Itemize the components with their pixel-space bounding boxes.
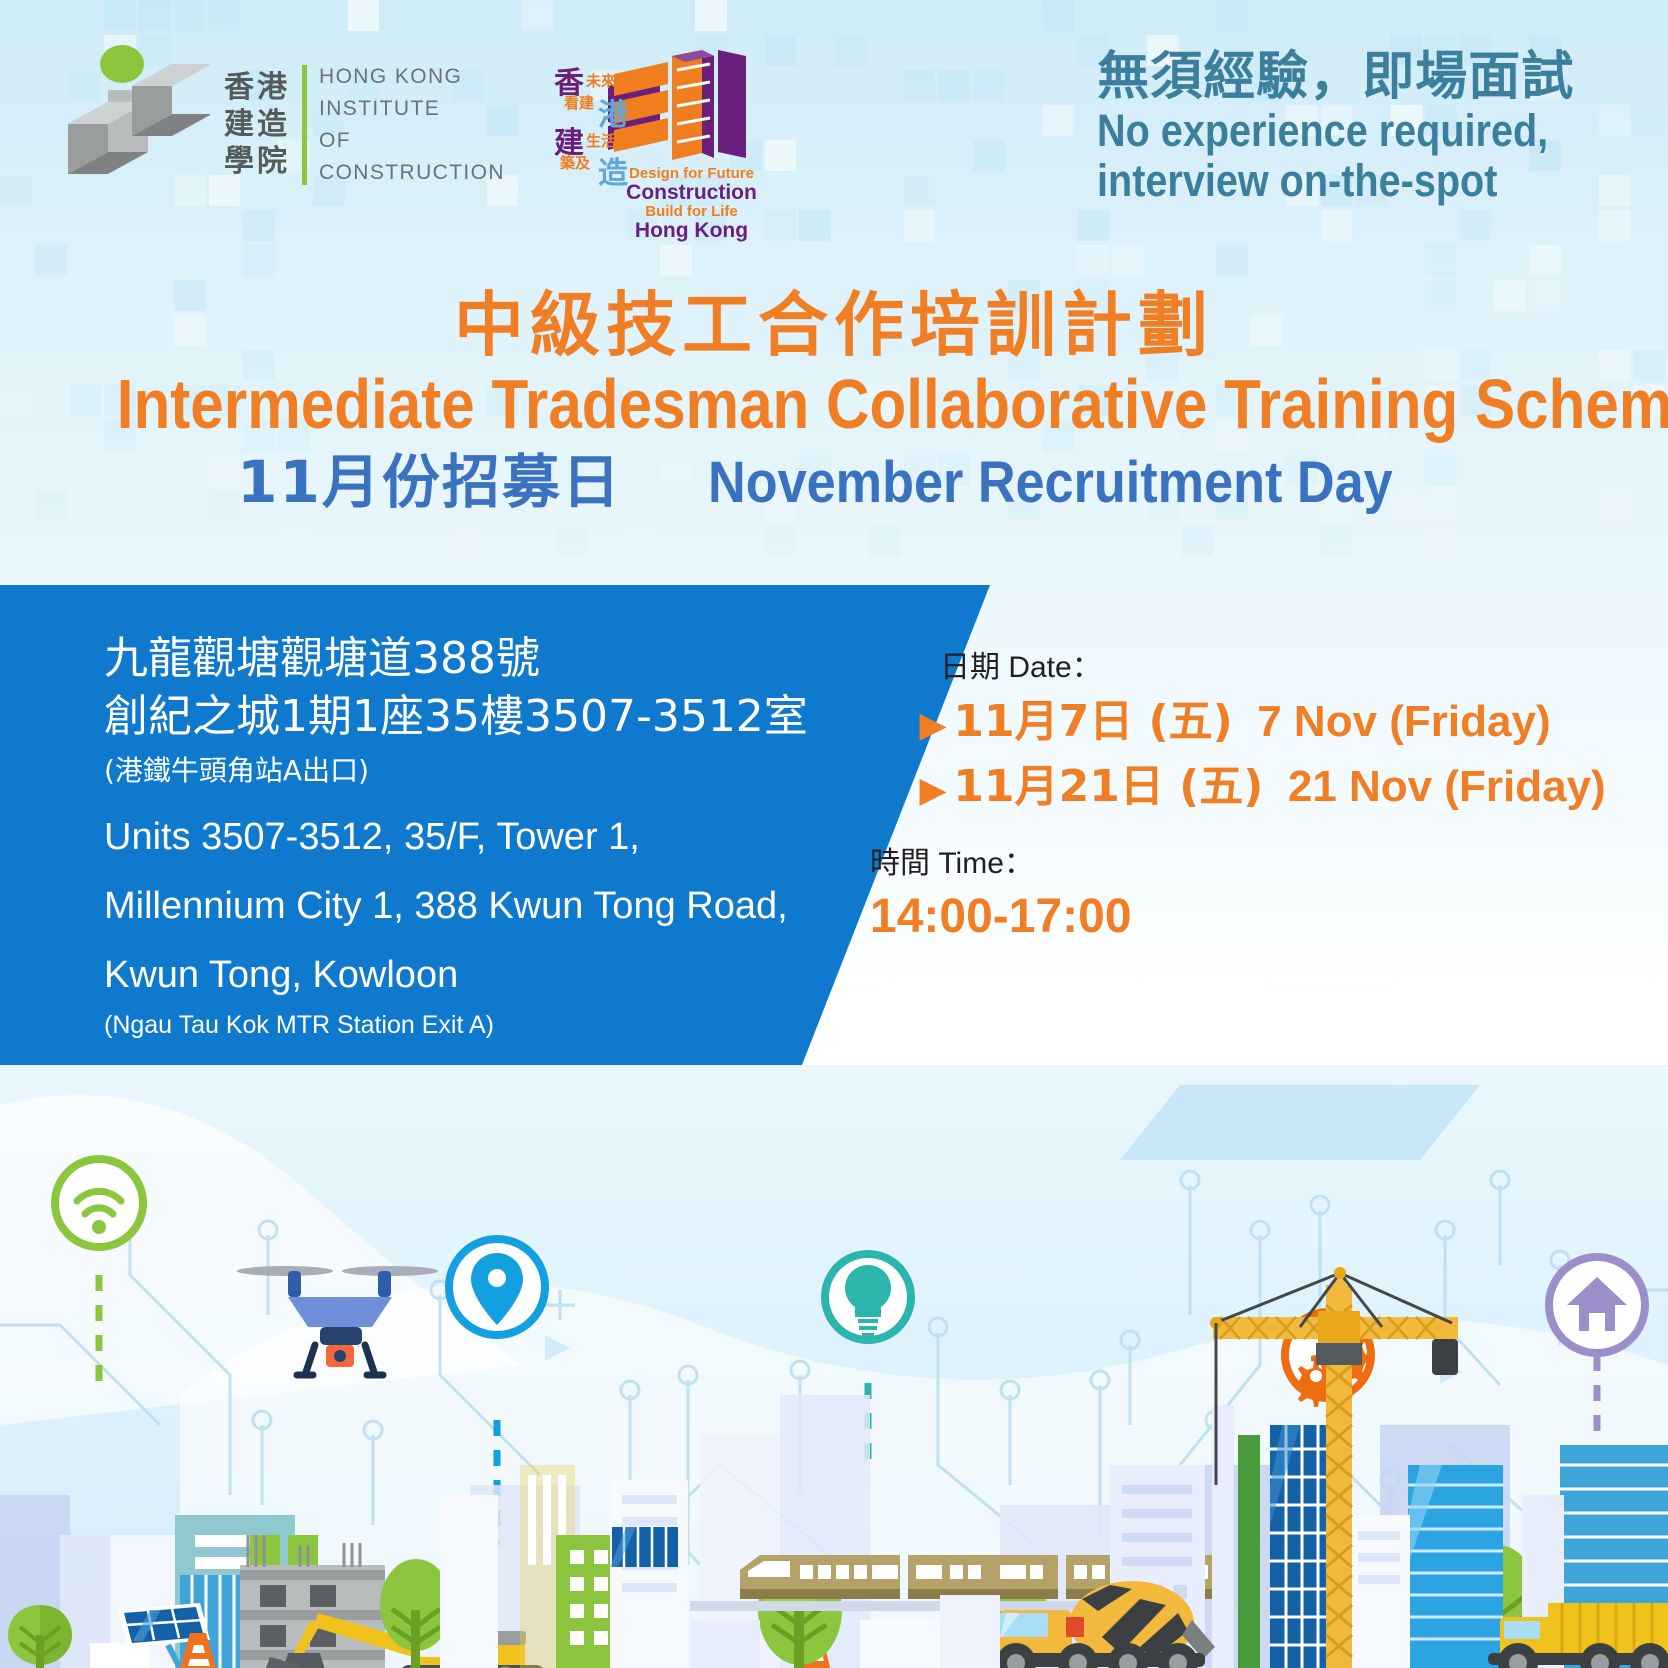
hkic-logo-text: 香港 建造 學院 HONG KONG INSTITUTE OF CONSTRUC… [224,61,505,189]
date-2-cn: 11月21日 (五) [953,761,1263,812]
address-en-line2: Millennium City 1, 388 Kwun Tong Road, [104,883,904,930]
dfc-tagline: Design for Future Construction Build for… [614,166,769,242]
date-2-en: 21 Nov (Friday) [1288,762,1606,811]
address-cn-note: (港鐵牛頭角站A出口) [104,750,904,792]
dfc-logo: 香 未來 看建 港 建 生活 築及 造 Design for Future Co… [552,48,767,223]
slogan-cn: 無須經驗，即場面試 [1097,48,1610,106]
address-block: 九龍觀塘觀塘道388號 創紀之城1期1座35樓3507-3512室 (港鐵牛頭角… [104,630,904,1043]
hkic-logo: 香港 建造 學院 HONG KONG INSTITUTE OF CONSTRUC… [60,42,505,207]
bullet-triangle-icon: ▶ [920,706,945,743]
slogan-en-line2: interview on-the-spot [1097,156,1548,206]
header-slogan: 無須經驗，即場面試 No experience required, interv… [1097,48,1610,206]
time-label: 時間 Time： [870,841,1640,887]
address-en-line1: Units 3507-3512, 35/F, Tower 1, [104,814,904,861]
bullet-triangle-icon: ▶ [920,771,945,808]
smart-city-illustration [0,1065,1668,1668]
address-cn-line1: 九龍觀塘觀塘道388號 [104,630,904,688]
date-label: 日期 Date： [940,645,1640,691]
subtitle: 11月份招募日 November Recruitment Day [0,447,1668,518]
date-row-2: ▶11月21日 (五) 21 Nov (Friday) [920,756,1640,821]
title-en: Intermediate Tradesman Collaborative Tra… [117,365,1551,443]
info-band: 九龍觀塘觀塘道388號 創紀之城1期1座35樓3507-3512室 (港鐵牛頭角… [0,585,1668,1070]
poster-root: 香港 建造 學院 HONG KONG INSTITUTE OF CONSTRUC… [0,0,1668,1668]
slogan-en-line1: No experience required, [1097,106,1548,156]
address-cn-line2: 創紀之城1期1座35樓3507-3512室 [104,688,904,746]
hkic-cn-name: 香港 建造 學院 [224,69,290,180]
hkic-logo-mark [60,42,210,207]
date-1-cn: 11月7日 (五) [953,696,1232,747]
hkic-divider [302,65,307,185]
title-cn: 中級技工合作培訓計劃 [0,285,1668,365]
address-en-line3: Kwun Tong, Kowloon [104,952,904,999]
title-block: 中級技工合作培訓計劃 Intermediate Tradesman Collab… [0,285,1668,518]
time-value: 14:00-17:00 [870,887,1640,947]
subtitle-cn: 11月份招募日 [237,448,622,516]
hkic-en-name: HONG KONG INSTITUTE OF CONSTRUCTION [319,61,505,189]
dfc-cn-chars: 香 未來 看建 港 建 生活 築及 造 [552,56,672,176]
subtitle-en: November Recruitment Day [708,448,1393,518]
date-1-en: 7 Nov (Friday) [1257,697,1550,746]
poster-header: 香港 建造 學院 HONG KONG INSTITUTE OF CONSTRUC… [0,0,1668,250]
date-row-1: ▶11月7日 (五) 7 Nov (Friday) [920,691,1640,756]
address-en-note: (Ngau Tau Kok MTR Station Exit A) [104,1007,904,1043]
schedule-block: 日期 Date： ▶11月7日 (五) 7 Nov (Friday) ▶11月2… [940,645,1640,947]
